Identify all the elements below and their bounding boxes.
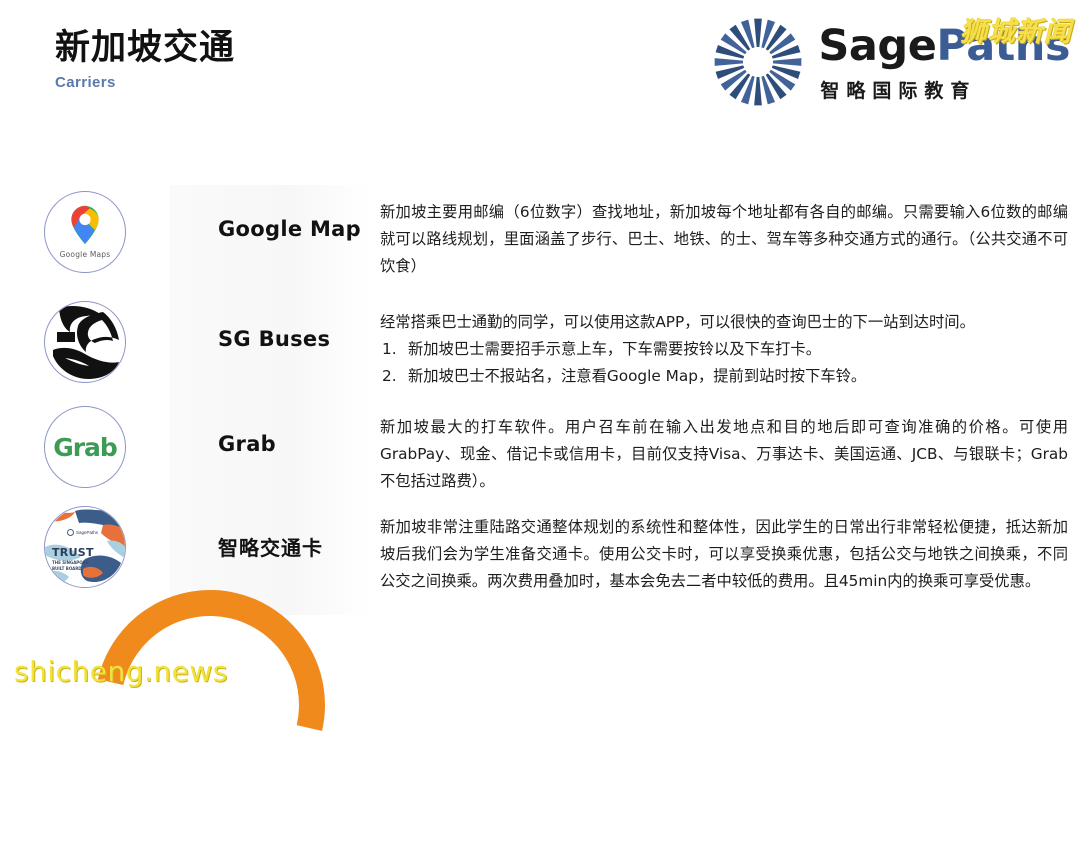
page-subtitle: Carriers bbox=[55, 74, 235, 91]
sunburst-logo-icon bbox=[704, 12, 812, 112]
row-label: SG Buses bbox=[170, 295, 380, 351]
transit-card-brand-logo: SagePaths bbox=[67, 529, 98, 536]
row-description: 新加坡主要用邮编（6位数字）查找地址，新加坡每个地址都有各自的邮编。只需要输入6… bbox=[380, 185, 1080, 279]
row-icon-cell: Grab bbox=[0, 400, 170, 488]
table-row: SG Buses 经常搭乘巴士通勤的同学，可以使用这款APP，可以很快的查询巴士… bbox=[0, 295, 1080, 400]
row-description: 经常搭乘巴士通勤的同学，可以使用这款APP，可以很快的查询巴士的下一站到达时间。… bbox=[380, 295, 1080, 389]
page-header: 新加坡交通 Carriers SagePaths 智略国际教育 bbox=[0, 0, 1080, 130]
carriers-table: Google Maps Google Map 新加坡主要用邮编（6位数字）查找地… bbox=[0, 185, 1080, 615]
map-pin-icon bbox=[68, 205, 102, 245]
row-numbered-list: 1. 新加坡巴士需要招手示意上车，下车需要按铃以及下车打卡。 2. 新加坡巴士不… bbox=[380, 336, 1068, 390]
watermark-top-right: 狮城新闻 bbox=[960, 10, 1072, 49]
row-icon-cell bbox=[0, 295, 170, 383]
row-paragraph: 新加坡最大的打车软件。用户召车前在输入出发地点和目的地后即可查询准确的价格。可使… bbox=[380, 414, 1068, 494]
watermark-bottom-left: shicheng.news bbox=[14, 655, 228, 688]
grab-wordmark: Grab bbox=[53, 433, 117, 462]
row-paragraph: 新加坡非常注重陆路交通整体规划的系统性和整体性，因此学生的日常出行非常轻松便捷，… bbox=[380, 514, 1068, 594]
transit-card-icon[interactable]: SagePaths TRUST THE SINGAPOREBUILT BOARD bbox=[44, 506, 126, 588]
transit-card-logo-mark-icon bbox=[67, 529, 74, 536]
row-description: 新加坡最大的打车软件。用户召车前在输入出发地点和目的地后即可查询准确的价格。可使… bbox=[380, 400, 1080, 494]
transit-card-logo-text: SagePaths bbox=[76, 530, 98, 535]
list-item-number: 2. bbox=[380, 363, 408, 390]
google-maps-icon[interactable]: Google Maps bbox=[44, 191, 126, 273]
page-title: 新加坡交通 bbox=[55, 28, 235, 68]
table-row: Google Maps Google Map 新加坡主要用邮编（6位数字）查找地… bbox=[0, 185, 1080, 295]
row-label: 智略交通卡 bbox=[170, 500, 380, 561]
row-icon-cell: SagePaths TRUST THE SINGAPOREBUILT BOARD bbox=[0, 500, 170, 588]
row-paragraph: 新加坡主要用邮编（6位数字）查找地址，新加坡每个地址都有各自的邮编。只需要输入6… bbox=[380, 199, 1068, 279]
google-maps-caption: Google Maps bbox=[60, 251, 111, 259]
grab-icon[interactable]: Grab bbox=[44, 406, 126, 488]
row-description: 新加坡非常注重陆路交通整体规划的系统性和整体性，因此学生的日常出行非常轻松便捷，… bbox=[380, 500, 1080, 594]
table-row: SagePaths TRUST THE SINGAPOREBUILT BOARD… bbox=[0, 500, 1080, 615]
brand-word-sage: Sage bbox=[818, 21, 936, 71]
transit-card-trust-subtext: THE SINGAPOREBUILT BOARD bbox=[52, 560, 88, 572]
sg-buses-glyph-icon bbox=[45, 302, 125, 382]
row-paragraph: 经常搭乘巴士通勤的同学，可以使用这款APP，可以很快的查询巴士的下一站到达时间。 bbox=[380, 309, 1068, 336]
list-item-text: 新加坡巴士不报站名，注意看Google Map，提前到站时按下车铃。 bbox=[408, 363, 866, 390]
list-item: 1. 新加坡巴士需要招手示意上车，下车需要按铃以及下车打卡。 bbox=[380, 336, 1068, 363]
title-block: 新加坡交通 Carriers bbox=[55, 28, 235, 91]
row-label: Grab bbox=[170, 400, 380, 456]
table-row: Grab Grab 新加坡最大的打车软件。用户召车前在输入出发地点和目的地后即可… bbox=[0, 400, 1080, 500]
list-item-number: 1. bbox=[380, 336, 408, 363]
list-item: 2. 新加坡巴士不报站名，注意看Google Map，提前到站时按下车铃。 bbox=[380, 363, 1068, 390]
transit-card-trust-text: TRUST bbox=[52, 547, 94, 558]
row-label: Google Map bbox=[170, 185, 380, 241]
sg-buses-icon[interactable] bbox=[44, 301, 126, 383]
brand-chinese-name: 智略国际教育 bbox=[818, 76, 1070, 103]
row-icon-cell: Google Maps bbox=[0, 185, 170, 273]
list-item-text: 新加坡巴士需要招手示意上车，下车需要按铃以及下车打卡。 bbox=[408, 336, 821, 363]
